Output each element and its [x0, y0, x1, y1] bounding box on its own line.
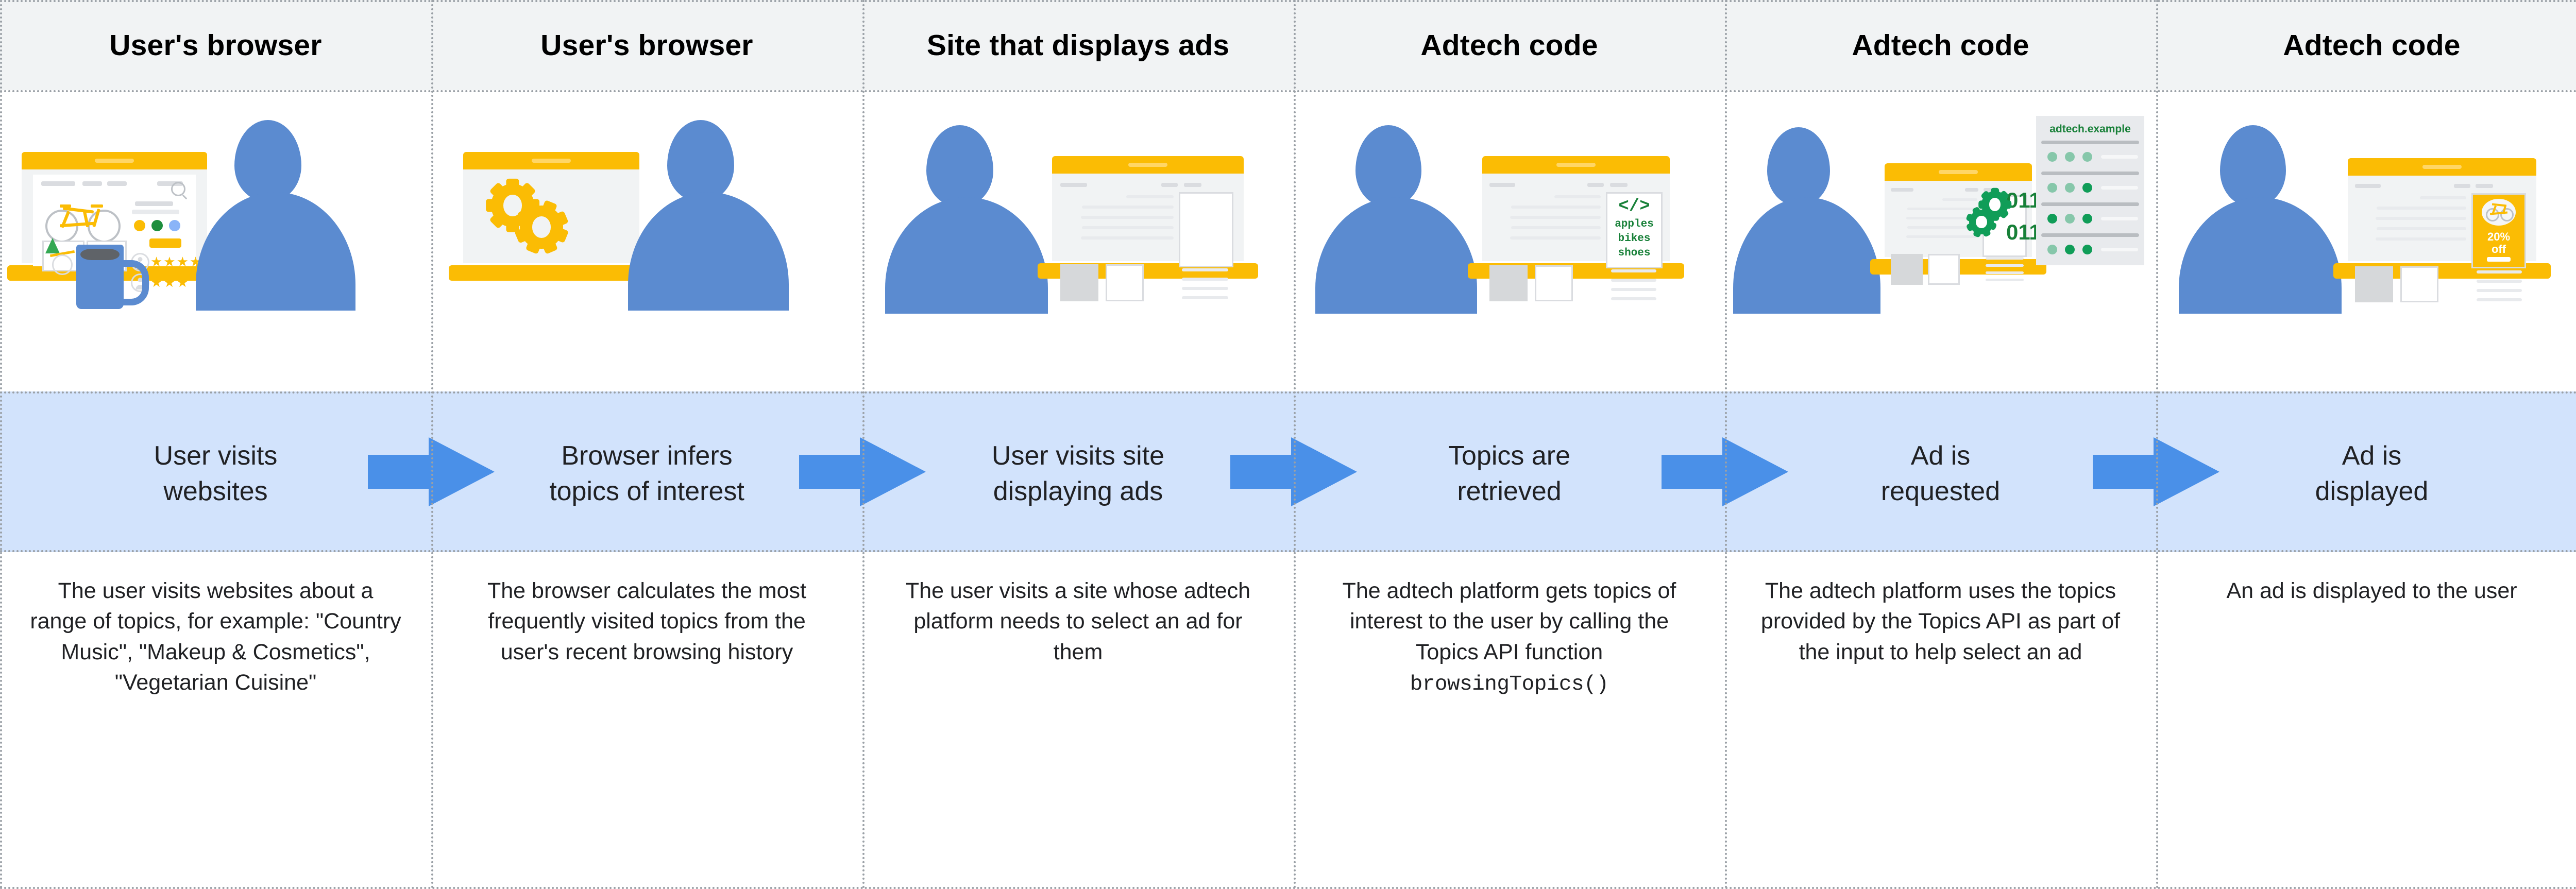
- description-row: The user visits websites about a range o…: [0, 552, 2576, 889]
- color-swatch-blue: [169, 220, 180, 231]
- monitor-icon: [463, 152, 639, 281]
- person-silhouette: [2179, 125, 2342, 283]
- step-4-line-2: retrieved: [1457, 476, 1561, 506]
- adtech-server-panel: adtech.example: [2036, 116, 2144, 265]
- step-3-line-1: User visits site: [992, 441, 1164, 471]
- person-silhouette: [885, 125, 1048, 283]
- description-4: The adtech platform gets topics of inter…: [1294, 552, 1725, 889]
- flow-arrow-1: [368, 437, 495, 506]
- step-3-line-2: displaying ads: [993, 476, 1163, 506]
- column-header-4: Adtech code: [1294, 0, 1725, 90]
- topics-api-flow-diagram: User's browser User's browser Site that …: [0, 0, 2576, 889]
- empty-ad-slot: [1179, 192, 1233, 267]
- step-6-line-1: Ad is: [2342, 441, 2402, 471]
- rating-stars-2: ★★★: [150, 276, 190, 289]
- step-band: User visitswebsites Browser inferstopics…: [0, 391, 2576, 552]
- ad-slot-with-topics-code: </> apples bikes shoes: [1606, 192, 1663, 268]
- topic-shoes: shoes: [1607, 247, 1661, 260]
- monitor-icon: </> apples bikes shoes: [1482, 156, 1670, 279]
- step-4-line-1: Topics are: [1448, 441, 1570, 471]
- step-5-line-2: requested: [1881, 476, 2000, 506]
- illustration-user-browsing-shopping-site: ★★★★ ★★★: [0, 90, 431, 391]
- person-silhouette: [1733, 127, 1880, 283]
- column-header-1: User's browser: [0, 0, 431, 90]
- step-label-5: Ad isrequested: [1725, 394, 2156, 554]
- step-label-4: Topics areretrieved: [1294, 394, 1725, 554]
- adtech-panel-title: adtech.example: [2036, 123, 2144, 135]
- description-1: The user visits websites about a range o…: [0, 552, 431, 889]
- ad-cta-button[interactable]: [2487, 257, 2511, 262]
- flow-arrow-2: [799, 437, 926, 506]
- step-1-line-1: User visits: [154, 441, 278, 471]
- illustration-row: ★★★★ ★★★: [0, 90, 2576, 391]
- column-header-6: Adtech code: [2156, 0, 2576, 90]
- column-header-2: User's browser: [431, 0, 862, 90]
- header-band: User's browser User's browser Site that …: [0, 0, 2576, 90]
- bicycle-image: [44, 197, 122, 238]
- step-1-line-2: websites: [163, 476, 267, 506]
- illustration-ad-requested: 0110 0111 adtech.example: [1725, 90, 2156, 391]
- color-swatch-orange: [134, 220, 145, 231]
- topic-apples: apples: [1607, 218, 1661, 231]
- column-header-3: Site that displays ads: [862, 0, 1294, 90]
- monitor-icon: 20% off: [2348, 158, 2536, 279]
- step-label-2: Browser inferstopics of interest: [431, 394, 862, 554]
- color-swatch-green: [151, 220, 163, 231]
- flow-arrow-5: [2093, 437, 2219, 506]
- gear-icon-green-2: [1969, 210, 1994, 234]
- illustration-site-displaying-ads: [862, 90, 1294, 391]
- ad-discount-percent: 20%: [2473, 231, 2524, 243]
- search-icon: [171, 182, 185, 196]
- ad-bike-image: [2482, 199, 2516, 226]
- flow-arrow-3: [1230, 437, 1357, 506]
- step-label-1: User visitswebsites: [0, 394, 431, 554]
- monitor-icon: [1052, 156, 1244, 279]
- ad-discount-off: off: [2473, 243, 2524, 255]
- illustration-browser-infers-topics: [431, 90, 862, 391]
- step-2-line-2: topics of interest: [549, 476, 744, 506]
- illustration-topics-retrieved: </> apples bikes shoes: [1294, 90, 1725, 391]
- ad-creative-bike-discount[interactable]: 20% off: [2471, 193, 2526, 268]
- step-2-line-1: Browser infers: [561, 441, 732, 471]
- step-6-line-2: displayed: [2315, 476, 2429, 506]
- description-3: The user visits a site whose adtech plat…: [862, 552, 1294, 889]
- person-silhouette: [1315, 125, 1477, 283]
- column-header-5: Adtech code: [1725, 0, 2156, 90]
- illustration-ad-displayed: 20% off: [2156, 90, 2576, 391]
- rating-stars-1: ★★★★: [150, 255, 202, 268]
- person-silhouette: [628, 120, 789, 280]
- monitor-icon: [1885, 163, 2032, 275]
- description-4-text: The adtech platform gets topics of inter…: [1343, 578, 1676, 664]
- code-brackets-icon: </>: [1607, 197, 1661, 216]
- gear-icon-2: [520, 206, 563, 249]
- step-5-line-1: Ad is: [1911, 441, 1971, 471]
- description-4-code: browsingTopics(): [1410, 673, 1609, 696]
- description-5: The adtech platform uses the topics prov…: [1725, 552, 2156, 889]
- topic-bikes: bikes: [1607, 233, 1661, 245]
- flow-arrow-4: [1662, 437, 1788, 506]
- buy-button[interactable]: [149, 238, 181, 248]
- step-label-3: User visits sitedisplaying ads: [862, 394, 1294, 554]
- description-2: The browser calculates the most frequent…: [431, 552, 862, 889]
- person-silhouette: [196, 120, 355, 280]
- description-6: An ad is displayed to the user: [2156, 552, 2576, 889]
